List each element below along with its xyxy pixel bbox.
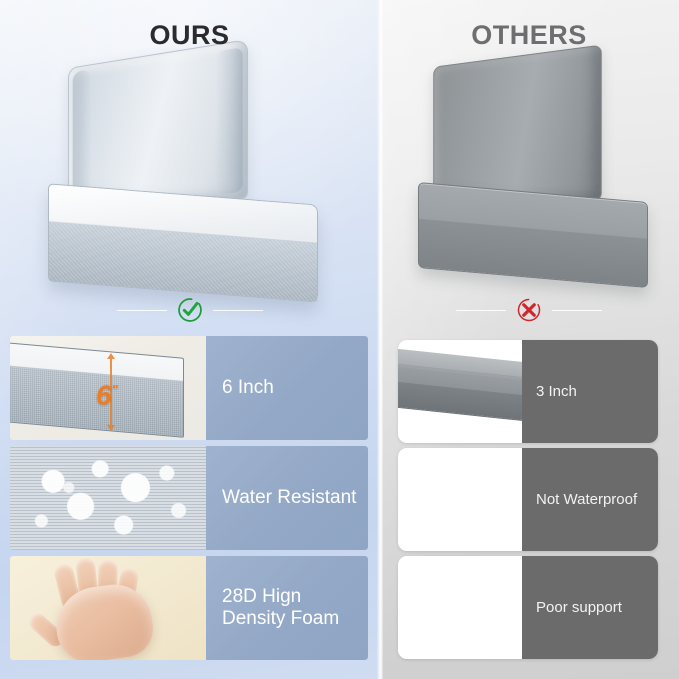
- check-circle-icon: [176, 296, 204, 324]
- thickness-marker: 6": [96, 376, 118, 409]
- others-feature-label-panel: Not Waterproof: [522, 448, 658, 551]
- others-heading: OTHERS: [379, 20, 679, 50]
- cross-circle-icon: [515, 296, 543, 324]
- ours-heading: OURS: [0, 20, 379, 50]
- panel-divider: [377, 0, 383, 679]
- foam-thickness-photo: 6": [10, 336, 206, 440]
- others-feature-label: Not Waterproof: [536, 490, 637, 509]
- verdict-rule-right: [552, 310, 602, 311]
- others-feature-label-panel: Poor support: [522, 556, 658, 659]
- others-feature-label: 3 Inch: [536, 382, 577, 401]
- ours-feature-label: Water Resistant: [222, 487, 356, 509]
- thin-cushion-photo: [398, 340, 522, 443]
- verdict-rule-right: [213, 310, 263, 311]
- verdict-rule-left: [117, 310, 167, 311]
- others-feature-list: 3 Inch Not Waterproof Poor support: [398, 340, 658, 659]
- others-verdict-row: [379, 292, 679, 328]
- ours-feature-card[interactable]: Water Resistant: [10, 446, 368, 550]
- others-feature-card[interactable]: Not Waterproof: [398, 448, 658, 551]
- others-hero-image: [412, 52, 662, 302]
- thin-slab-shape: [398, 362, 522, 422]
- others-feature-card[interactable]: 3 Inch: [398, 340, 658, 443]
- water-beading-photo: [10, 446, 206, 550]
- ours-seat-cushion: [48, 183, 318, 302]
- ours-feature-label-panel: Water Resistant: [206, 446, 368, 550]
- others-seat-cushion: [418, 182, 648, 288]
- mesh-fabric-photo: [398, 448, 522, 551]
- ours-hero-image: [44, 52, 336, 302]
- others-feature-label-panel: 3 Inch: [522, 340, 658, 443]
- others-feature-card[interactable]: Poor support: [398, 556, 658, 659]
- others-feature-label: Poor support: [536, 598, 622, 617]
- verdict-rule-left: [456, 310, 506, 311]
- ours-feature-card[interactable]: 6" 6 Inch: [10, 336, 368, 440]
- ours-feature-list: 6" 6 Inch Water Resistant 28D Hign De: [10, 336, 368, 660]
- ours-feature-label-panel: 6 Inch: [206, 336, 368, 440]
- hand-pressing-foam-photo: [10, 556, 206, 660]
- comparison-infographic: OURS OTHERS 6": [0, 0, 679, 679]
- ours-verdict-row: [0, 292, 379, 328]
- ours-feature-card[interactable]: 28D Hign Density Foam: [10, 556, 368, 660]
- ours-feature-label: 28D Hign Density Foam: [222, 586, 368, 630]
- loose-fiber-fill-photo: [398, 556, 522, 659]
- ours-feature-label-panel: 28D Hign Density Foam: [206, 556, 368, 660]
- ours-feature-label: 6 Inch: [222, 377, 274, 399]
